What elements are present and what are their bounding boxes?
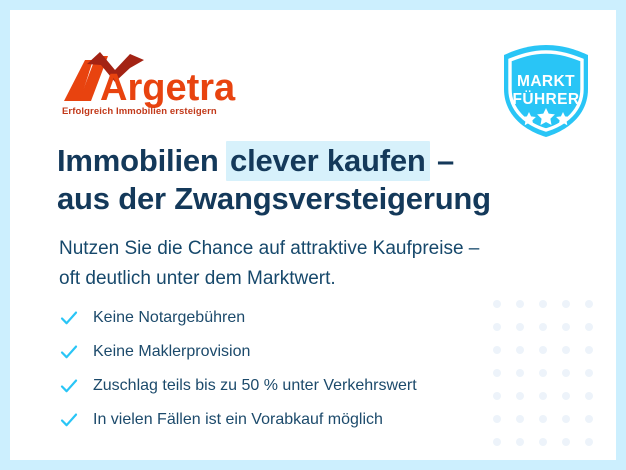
feature-label: Zuschlag teils bis zu 50 % unter Verkehr… [93,376,417,396]
decorative-dot [562,438,570,446]
headline-line-1: Immobilien clever kaufen – [57,142,491,180]
feature-label: Keine Notargebühren [93,308,245,328]
feature-item: Zuschlag teils bis zu 50 % unter Verkehr… [59,374,417,398]
decorative-dot [562,415,570,423]
feature-label: In vielen Fällen ist ein Vorabkauf mögli… [93,410,383,430]
decorative-dot [516,369,524,377]
headline-line1-post: – [429,143,454,178]
decorative-dot [539,346,547,354]
badge-line1: MARKT [517,73,575,90]
decorative-dot [493,300,501,308]
decorative-dot [585,323,593,331]
subcopy: Nutzen Sie die Chance auf attraktive Kau… [59,234,479,294]
decorative-dot [585,392,593,400]
decorative-dot [516,415,524,423]
decorative-dot [516,300,524,308]
decorative-dot [585,346,593,354]
decorative-dot [585,369,593,377]
decorative-dot [516,346,524,354]
decorative-dot [585,438,593,446]
feature-item: In vielen Fällen ist ein Vorabkauf mögli… [59,408,417,432]
decorative-dot [585,300,593,308]
headline-highlight: clever kaufen [226,141,430,181]
check-icon [59,376,79,396]
decorative-dot [516,438,524,446]
feature-label: Keine Maklerprovision [93,342,250,362]
decorative-dot [562,346,570,354]
decorative-dot [493,438,501,446]
promo-card-frame: Argetra Erfolgreich Immobilien ersteiger… [0,0,626,470]
decorative-dot [493,346,501,354]
decorative-dot-grid [493,300,608,460]
feature-list: Keine NotargebührenKeine Maklerprovision… [59,306,417,432]
feature-item: Keine Maklerprovision [59,340,417,364]
decorative-dot [493,415,501,423]
decorative-dot [539,369,547,377]
promo-card-canvas: Argetra Erfolgreich Immobilien ersteiger… [10,10,616,460]
logo-wordmark: Argetra [100,67,236,109]
check-icon [59,342,79,362]
decorative-dot [539,323,547,331]
decorative-dot [562,392,570,400]
subcopy-line-1: Nutzen Sie die Chance auf attraktive Kau… [59,234,479,264]
decorative-dot [562,369,570,377]
decorative-dot [493,392,501,400]
headline: Immobilien clever kaufen – aus der Zwang… [57,142,491,218]
decorative-dot [539,300,547,308]
badge-line2: FÜHRER [513,91,580,108]
logo-tagline: Erfolgreich Immobilien ersteigern [62,106,217,117]
feature-item: Keine Notargebühren [59,306,417,330]
decorative-dot [539,438,547,446]
headline-line-2: aus der Zwangsversteigerung [57,180,491,218]
subcopy-line-2: oft deutlich unter dem Marktwert. [59,264,479,294]
check-icon [59,410,79,430]
argetra-logo[interactable]: Argetra Erfolgreich Immobilien ersteiger… [58,48,248,120]
decorative-dot [516,392,524,400]
market-leader-badge: MARKT FÜHRER [497,42,595,140]
decorative-dot [562,323,570,331]
check-icon [59,308,79,328]
decorative-dot [493,369,501,377]
decorative-dot [539,415,547,423]
decorative-dot [585,415,593,423]
decorative-dot [516,323,524,331]
decorative-dot [562,300,570,308]
decorative-dot [539,392,547,400]
headline-line1-pre: Immobilien [57,143,227,178]
decorative-dot [493,323,501,331]
